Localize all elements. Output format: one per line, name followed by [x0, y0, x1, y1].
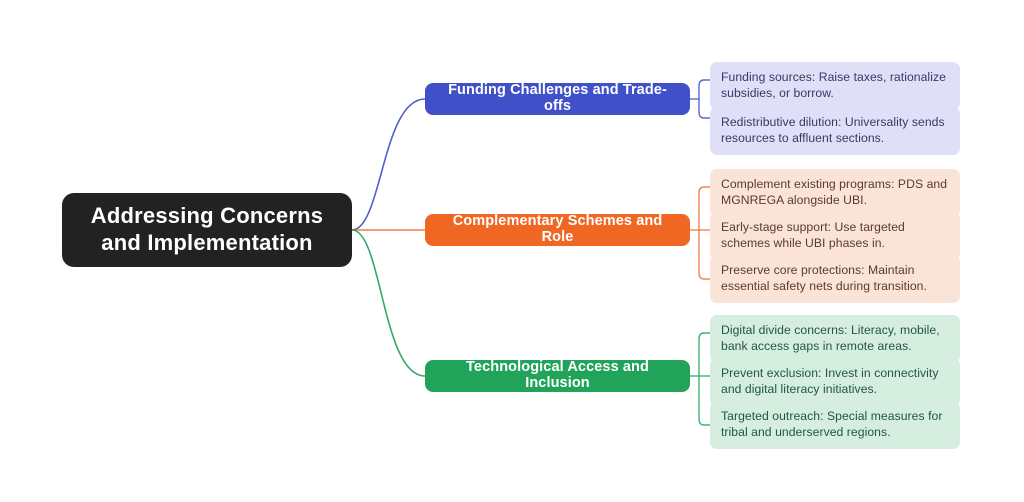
mind-map-canvas: Addressing Concerns and Implementation F… — [0, 0, 1024, 502]
connector-root-to-technological — [352, 230, 425, 376]
leaf-node-funding-2[interactable]: Redistributive dilution: Universality se… — [710, 107, 960, 155]
leaf-label-complementary-3: Preserve core protections: Maintain esse… — [721, 262, 950, 295]
root-node-label: Addressing Concerns and Implementation — [91, 203, 323, 257]
leaf-label-technological-2: Prevent exclusion: Invest in connectivit… — [721, 365, 950, 398]
branch-label-technological: Technological Access and Inclusion — [435, 360, 680, 392]
branch-label-complementary: Complementary Schemes and Role — [435, 214, 680, 246]
leaf-label-complementary-2: Early-stage support: Use targeted scheme… — [721, 219, 950, 252]
leaf-node-technological-1[interactable]: Digital divide concerns: Literacy, mobil… — [710, 315, 960, 363]
leaf-label-technological-3: Targeted outreach: Special measures for … — [721, 408, 950, 441]
leaf-node-complementary-1[interactable]: Complement existing programs: PDS and MG… — [710, 169, 960, 217]
connector-technological-bracket — [699, 333, 710, 425]
connector-root-to-funding — [352, 99, 425, 230]
leaf-label-funding-1: Funding sources: Raise taxes, rationaliz… — [721, 69, 950, 102]
branch-node-complementary[interactable]: Complementary Schemes and Role — [425, 214, 690, 246]
root-node[interactable]: Addressing Concerns and Implementation — [62, 193, 352, 267]
leaf-node-technological-3[interactable]: Targeted outreach: Special measures for … — [710, 401, 960, 449]
branch-node-funding[interactable]: Funding Challenges and Trade-offs — [425, 83, 690, 115]
branch-label-funding: Funding Challenges and Trade-offs — [435, 83, 680, 115]
leaf-label-technological-1: Digital divide concerns: Literacy, mobil… — [721, 322, 950, 355]
branch-node-technological[interactable]: Technological Access and Inclusion — [425, 360, 690, 392]
connector-complementary-bracket — [699, 187, 710, 279]
connector-funding-bracket — [699, 80, 710, 118]
leaf-node-technological-2[interactable]: Prevent exclusion: Invest in connectivit… — [710, 358, 960, 406]
leaf-label-complementary-1: Complement existing programs: PDS and MG… — [721, 176, 950, 209]
leaf-label-funding-2: Redistributive dilution: Universality se… — [721, 114, 950, 147]
leaf-node-complementary-2[interactable]: Early-stage support: Use targeted scheme… — [710, 212, 960, 260]
leaf-node-complementary-3[interactable]: Preserve core protections: Maintain esse… — [710, 255, 960, 303]
leaf-node-funding-1[interactable]: Funding sources: Raise taxes, rationaliz… — [710, 62, 960, 110]
